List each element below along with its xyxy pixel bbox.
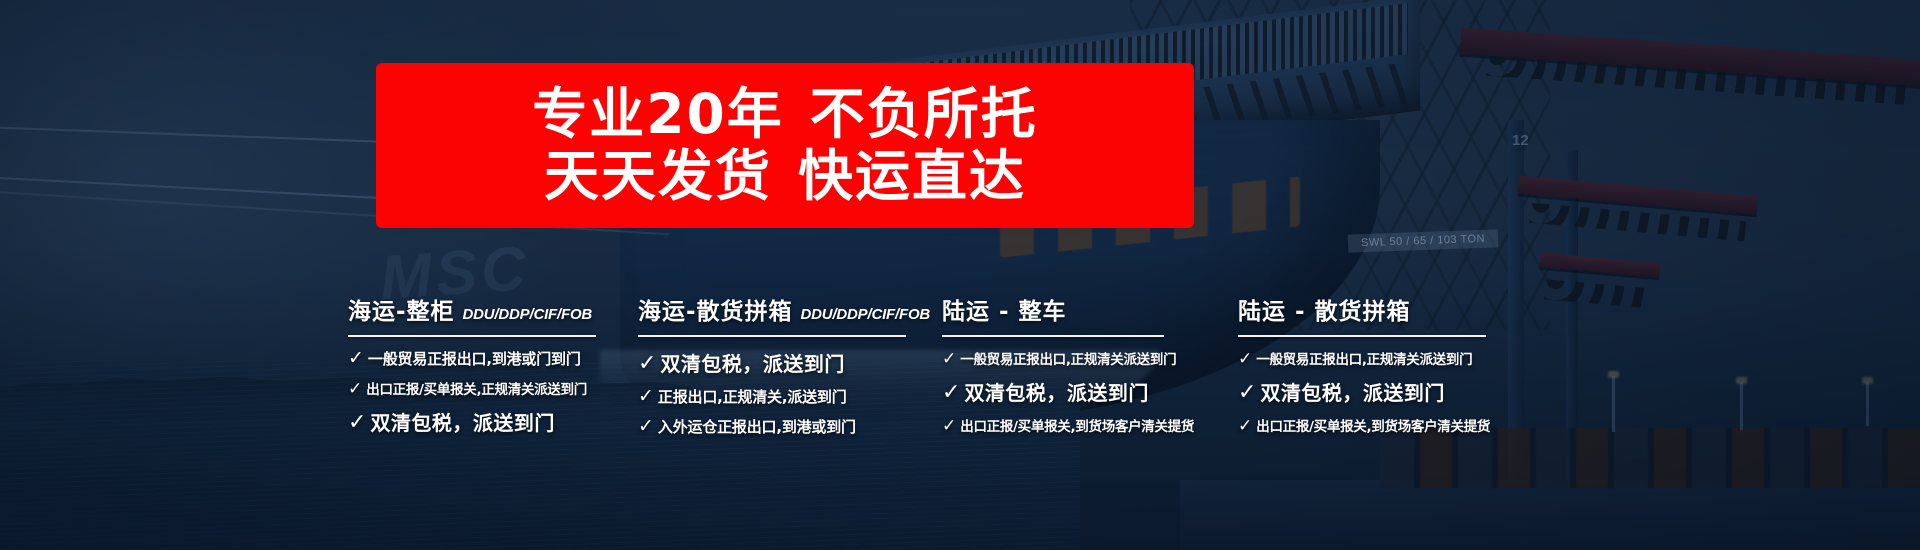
check-icon: ✓ <box>348 411 366 433</box>
service-column-header: 陆运 - 散货拼箱 <box>1238 292 1538 326</box>
service-item-label: 出口正报/买单报关,到货场客户清关提货 <box>1256 415 1490 435</box>
headline-line-1-part-a: 专业20年 <box>532 82 784 146</box>
service-item-label: 一般贸易正报出口,正规清关派送到门 <box>1256 348 1472 368</box>
service-column-title: 海运-整柜 <box>348 292 455 326</box>
service-item: ✓ 双清包税，派送到门 <box>942 377 1238 406</box>
service-item-label: 双清包税，派送到门 <box>370 407 555 436</box>
service-item: ✓ 双清包税，派送到门 <box>638 348 946 377</box>
header-underline <box>638 335 906 337</box>
service-column-title: 陆运 - 散货拼箱 <box>1238 292 1411 326</box>
service-item: ✓ 入外运仓正报出口,到港或到门 <box>638 416 946 437</box>
service-item-label: 入外运仓正报出口,到港或到门 <box>658 416 856 437</box>
header-underline <box>1238 335 1486 337</box>
service-column-header: 海运-整柜 DDU/DDP/CIF/FOB <box>348 292 648 326</box>
service-item: ✓ 双清包税，派送到门 <box>348 407 648 436</box>
check-icon: ✓ <box>942 350 956 367</box>
service-item: ✓ 出口正报/买单报关,正规清关派送到门 <box>348 378 648 398</box>
service-item: ✓ 一般贸易正报出口,正规清关派送到门 <box>942 348 1238 368</box>
service-item: ✓ 一般贸易正报出口,正规清关派送到门 <box>1238 348 1538 368</box>
check-icon: ✓ <box>942 381 960 403</box>
service-column-land-ltl[interactable]: 陆运 - 散货拼箱 ✓ 一般贸易正报出口,正规清关派送到门 ✓ 双清包税，派送到… <box>1238 288 1538 418</box>
promo-banner: MSC 12 SWL 50 / 65 / 103 TON 专业20年不负所托 <box>0 0 1920 550</box>
service-item-label: 一般贸易正报出口,到港或门到门 <box>368 348 581 369</box>
service-column-tag: DDU/DDP/CIF/FOB <box>801 306 931 323</box>
service-item-label: 出口正报/买单报关,正规清关派送到门 <box>366 378 587 398</box>
service-item-label: 正报出口,正规清关,派送到门 <box>658 386 847 407</box>
service-column-title: 海运-散货拼箱 <box>638 292 793 326</box>
headline-line-1-part-b: 不负所托 <box>810 82 1038 146</box>
service-item: ✓ 出口正报/买单报关,到货场客户清关提货 <box>942 415 1238 435</box>
check-icon: ✓ <box>348 349 364 368</box>
service-column-sea-lcl[interactable]: 海运-散货拼箱 DDU/DDP/CIF/FOB ✓ 双清包税，派送到门 ✓ 正报… <box>638 288 946 418</box>
check-icon: ✓ <box>638 417 654 436</box>
check-icon: ✓ <box>348 380 362 397</box>
service-item-label: 双清包税，派送到门 <box>660 348 845 377</box>
headline-line-1: 专业20年不负所托 <box>532 85 1038 144</box>
service-item-label: 出口正报/买单报关,到货场客户清关提货 <box>960 415 1194 435</box>
check-icon: ✓ <box>638 387 654 406</box>
check-icon: ✓ <box>942 417 956 434</box>
headline-line-2: 天天发货快运直达 <box>544 147 1026 206</box>
check-icon: ✓ <box>1238 417 1252 434</box>
header-underline <box>942 335 1164 337</box>
service-column-header: 海运-散货拼箱 DDU/DDP/CIF/FOB <box>638 292 946 326</box>
check-icon: ✓ <box>1238 381 1256 403</box>
service-column-title: 陆运 - 整车 <box>942 292 1067 326</box>
service-item: ✓ 一般贸易正报出口,到港或门到门 <box>348 348 648 369</box>
service-item-label: 双清包税，派送到门 <box>1260 377 1445 406</box>
headline-plate: 专业20年不负所托 天天发货快运直达 <box>376 63 1194 228</box>
headline-line-2-part-b: 快运直达 <box>798 144 1026 208</box>
check-icon: ✓ <box>638 352 656 374</box>
service-column-land-ftl[interactable]: 陆运 - 整车 ✓ 一般贸易正报出口,正规清关派送到门 ✓ 双清包税，派送到门 … <box>942 288 1238 418</box>
check-icon: ✓ <box>1238 350 1252 367</box>
service-item: ✓ 双清包税，派送到门 <box>1238 377 1538 406</box>
service-item: ✓ 正报出口,正规清关,派送到门 <box>638 386 946 407</box>
service-column-header: 陆运 - 整车 <box>942 292 1238 326</box>
service-item: ✓ 出口正报/买单报关,到货场客户清关提货 <box>1238 415 1538 435</box>
service-item-label: 双清包税，派送到门 <box>964 377 1149 406</box>
service-column-sea-fcl[interactable]: 海运-整柜 DDU/DDP/CIF/FOB ✓ 一般贸易正报出口,到港或门到门 … <box>348 288 648 418</box>
header-underline <box>348 335 596 337</box>
service-column-tag: DDU/DDP/CIF/FOB <box>463 306 593 323</box>
headline-line-2-part-a: 天天发货 <box>544 144 772 208</box>
service-item-label: 一般贸易正报出口,正规清关派送到门 <box>960 348 1176 368</box>
service-columns: 海运-整柜 DDU/DDP/CIF/FOB ✓ 一般贸易正报出口,到港或门到门 … <box>0 288 1920 418</box>
